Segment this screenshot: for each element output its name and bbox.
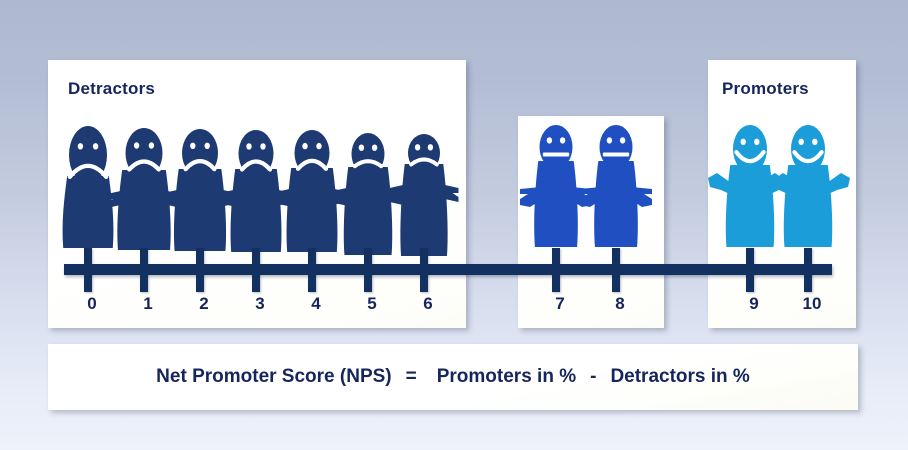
axis-tick-label-3: 3 bbox=[240, 294, 280, 314]
formula-result-term: Net Promoter Score (NPS) bbox=[156, 366, 391, 388]
axis-tick-label-10: 10 bbox=[792, 294, 832, 314]
axis-tick-label-7: 7 bbox=[540, 294, 580, 314]
axis-tick-8 bbox=[612, 248, 620, 292]
formula-equals-sign: = bbox=[392, 366, 431, 388]
nps-formula-text: Net Promoter Score (NPS) = Promoters in … bbox=[156, 366, 750, 388]
axis-tick-2 bbox=[196, 248, 204, 292]
axis-tick-10 bbox=[804, 248, 812, 292]
promoters-title: Promoters bbox=[722, 79, 809, 99]
infographic-canvas: Detractors Promoters 012345678910 Net Pr… bbox=[0, 0, 908, 450]
axis-tick-label-4: 4 bbox=[296, 294, 336, 314]
axis-tick-label-9: 9 bbox=[734, 294, 774, 314]
axis-tick-label-0: 0 bbox=[72, 294, 112, 314]
axis-tick-label-2: 2 bbox=[184, 294, 224, 314]
axis-tick-label-5: 5 bbox=[352, 294, 392, 314]
axis-tick-9 bbox=[746, 248, 754, 292]
axis-tick-4 bbox=[308, 248, 316, 292]
nps-formula-bar: Net Promoter Score (NPS) = Promoters in … bbox=[48, 344, 858, 410]
axis-tick-0 bbox=[84, 248, 92, 292]
score-figure-8 bbox=[568, 121, 664, 256]
formula-negative-term: Detractors in % bbox=[610, 366, 749, 388]
score-figure-6 bbox=[376, 130, 472, 265]
formula-positive-term: Promoters in % bbox=[437, 366, 576, 388]
axis-tick-6 bbox=[420, 248, 428, 292]
axis-tick-5 bbox=[364, 248, 372, 292]
axis-tick-3 bbox=[252, 248, 260, 292]
detractors-title: Detractors bbox=[68, 79, 155, 99]
axis-tick-label-6: 6 bbox=[408, 294, 448, 314]
axis-tick-label-8: 8 bbox=[600, 294, 640, 314]
formula-minus-sign: - bbox=[576, 366, 610, 388]
axis-tick-label-1: 1 bbox=[128, 294, 168, 314]
score-axis-line bbox=[64, 264, 832, 275]
axis-tick-1 bbox=[140, 248, 148, 292]
score-figure-10 bbox=[760, 121, 856, 256]
axis-tick-7 bbox=[552, 248, 560, 292]
